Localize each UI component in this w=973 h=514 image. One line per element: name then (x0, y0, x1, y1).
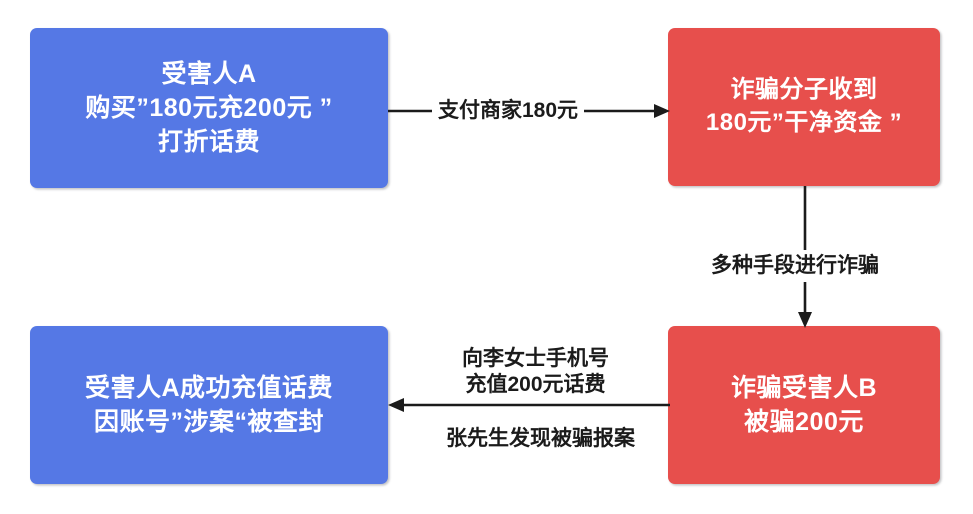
node-line: 诈骗分子收到 (706, 74, 902, 107)
node-fraud-victim-b: 诈骗受害人B 被骗200元 (668, 326, 940, 484)
node-victim-a-frozen-text: 受害人A成功充值话费 因账号”涉案“被查封 (77, 371, 341, 439)
node-victim-a-frozen: 受害人A成功充值话费 因账号”涉案“被查封 (30, 326, 388, 484)
node-fraud-victim-b-text: 诈骗受害人B 被骗200元 (723, 371, 885, 439)
diagram-canvas: 受害人A 购买”180元充200元 ” 打折话费 诈骗分子收到 180元”干净资… (0, 0, 973, 514)
label-line: 向李女士手机号 (462, 347, 609, 370)
label-report-to-police: 张先生发现被骗报案 (440, 426, 641, 452)
node-line: 180元”干净资金 ” (706, 107, 902, 140)
arrow-recharge (388, 394, 670, 416)
label-pay-merchant: 支付商家180元 (432, 98, 584, 124)
node-line: 因账号”涉案“被查封 (85, 405, 333, 439)
label-fraud-methods: 多种手段进行诈骗 (706, 250, 884, 282)
node-fraudster-receives: 诈骗分子收到 180元”干净资金 ” (668, 28, 940, 186)
node-line: 受害人A成功充值话费 (85, 371, 333, 405)
label-line: 充值200元话费 (465, 373, 605, 396)
label-recharge-amount: 向李女士手机号 充值200元话费 (456, 346, 615, 397)
node-line: 购买”180元充200元 ” (85, 91, 332, 125)
node-victim-a-purchase: 受害人A 购买”180元充200元 ” 打折话费 (30, 28, 388, 188)
node-victim-a-purchase-text: 受害人A 购买”180元充200元 ” 打折话费 (77, 57, 340, 159)
node-line: 打折话费 (85, 125, 332, 159)
node-line: 诈骗受害人B (731, 371, 877, 405)
node-line: 被骗200元 (731, 405, 877, 439)
node-fraudster-receives-text: 诈骗分子收到 180元”干净资金 ” (698, 74, 910, 139)
node-line: 受害人A (85, 57, 332, 91)
